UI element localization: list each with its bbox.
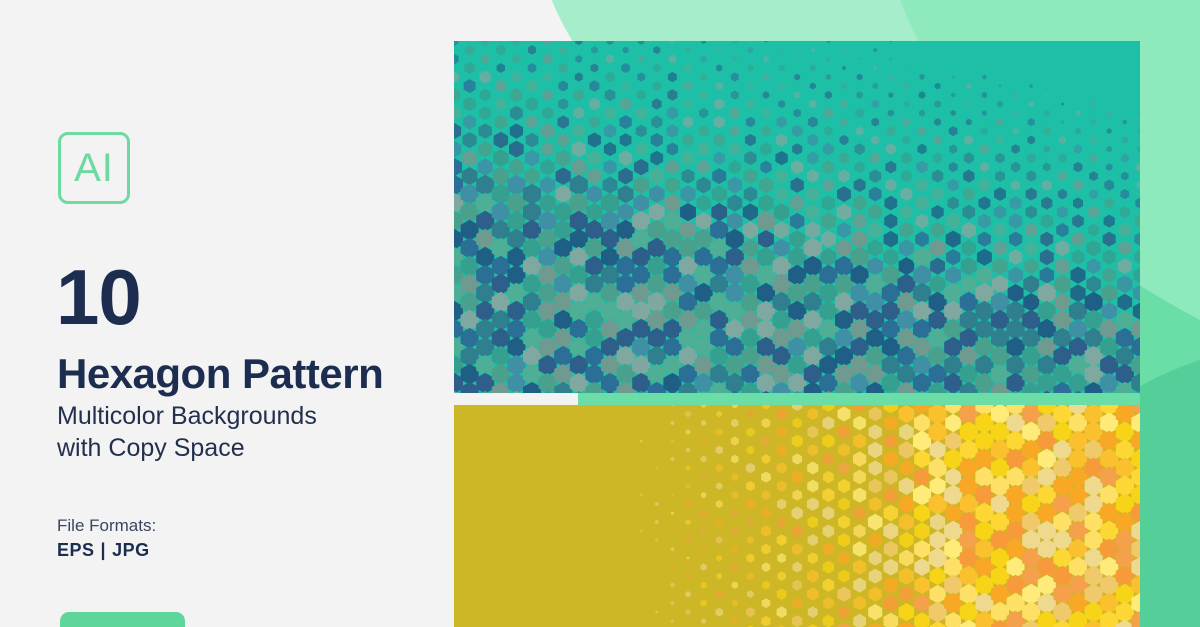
file-format-separator: | (95, 540, 113, 560)
decor-gap-sliver (578, 393, 1140, 405)
adobe-illustrator-badge: AI (58, 132, 130, 204)
cta-button[interactable] (60, 612, 185, 627)
file-formats-label: File Formats: (57, 516, 156, 536)
file-format-jpg: JPG (112, 540, 150, 560)
page-subtitle-line-1: Multicolor Backgrounds (57, 400, 317, 432)
info-column: AI 10 Hexagon Pattern Multicolor Backgro… (0, 0, 454, 627)
adobe-illustrator-badge-label: AI (74, 148, 114, 188)
page-subtitle-line-2: with Copy Space (57, 432, 317, 464)
file-formats-value: EPS|JPG (57, 540, 150, 561)
item-count: 10 (56, 258, 141, 336)
preview-panel-yellow[interactable] (454, 405, 1140, 627)
file-format-eps: EPS (57, 540, 95, 560)
page-subtitle: Multicolor Backgrounds with Copy Space (57, 400, 317, 464)
page-title: Hexagon Pattern (57, 352, 383, 396)
preview-panel-teal[interactable] (454, 41, 1140, 393)
poster-canvas: AI 10 Hexagon Pattern Multicolor Backgro… (0, 0, 1200, 627)
